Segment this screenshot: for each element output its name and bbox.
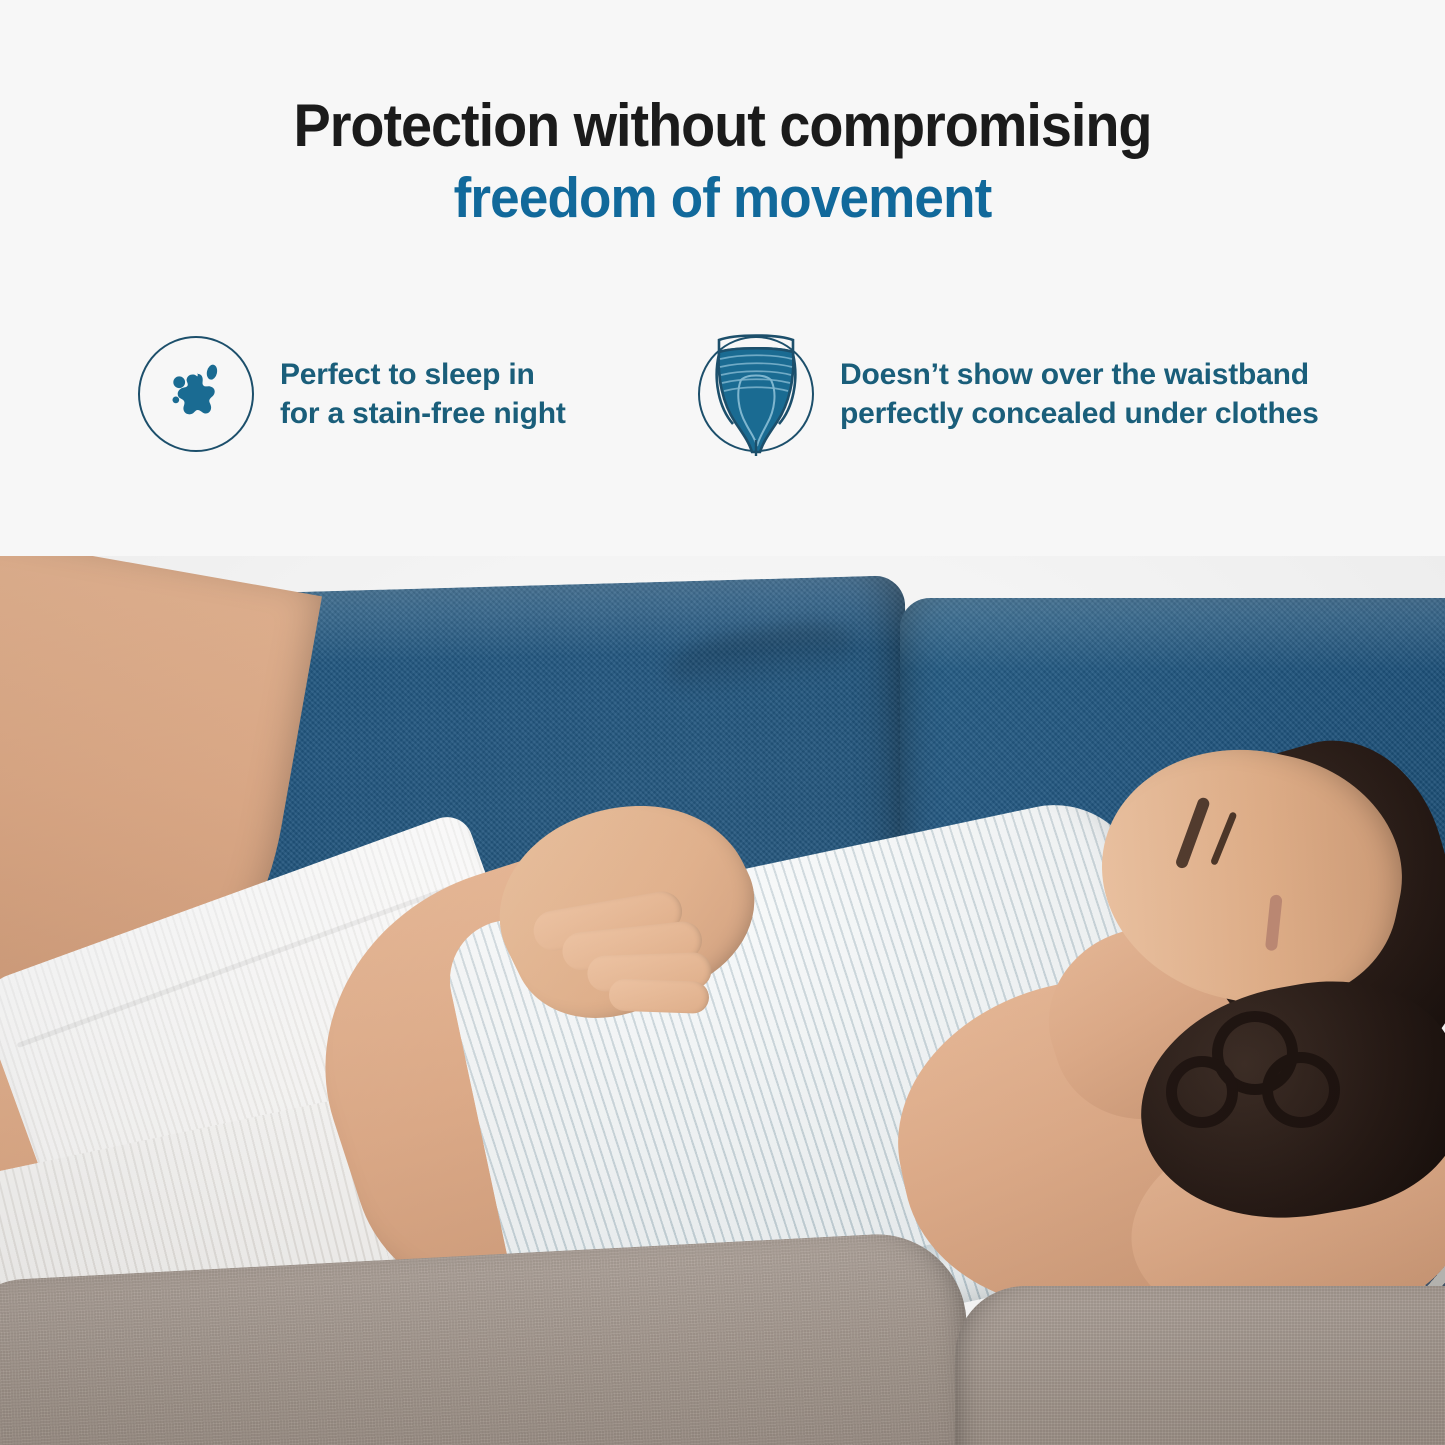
- headline-line-2: freedom of movement: [51, 170, 1395, 227]
- splash-icon: [138, 336, 254, 452]
- feature-list: Perfect to sleep in for a stain-free nig…: [0, 336, 1445, 476]
- hair-curl: [1262, 1052, 1340, 1128]
- finger: [608, 978, 709, 1013]
- closed-eye: [1210, 811, 1237, 866]
- feature-item-sleep: Perfect to sleep in for a stain-free nig…: [138, 336, 566, 452]
- feature-label-concealed-line2: perfectly concealed under clothes: [840, 394, 1319, 433]
- underwear-brief-icon: [698, 336, 814, 452]
- lifestyle-photo: [0, 556, 1445, 1445]
- cushion-sheen: [900, 598, 1445, 670]
- marketing-header: Protection without compromising freedom …: [0, 0, 1445, 556]
- feature-label-sleep-line2: for a stain-free night: [280, 394, 566, 433]
- feature-label-sleep-line1: Perfect to sleep in: [280, 355, 566, 394]
- lips: [1265, 894, 1283, 951]
- feature-item-concealed: Doesn’t show over the waistband perfectl…: [698, 336, 1319, 452]
- feature-label-concealed: Doesn’t show over the waistband perfectl…: [840, 355, 1319, 433]
- headline-line-1: Protection without compromising: [51, 96, 1395, 156]
- feature-label-concealed-line1: Doesn’t show over the waistband: [840, 355, 1319, 394]
- sofa-seat-cushion-right: [955, 1286, 1445, 1445]
- eyebrow: [1174, 796, 1211, 870]
- hair-curl: [1166, 1056, 1238, 1128]
- page-title: Protection without compromising freedom …: [0, 96, 1445, 227]
- feature-label-sleep: Perfect to sleep in for a stain-free nig…: [280, 355, 566, 433]
- product-feature-banner: Protection without compromising freedom …: [0, 0, 1445, 1445]
